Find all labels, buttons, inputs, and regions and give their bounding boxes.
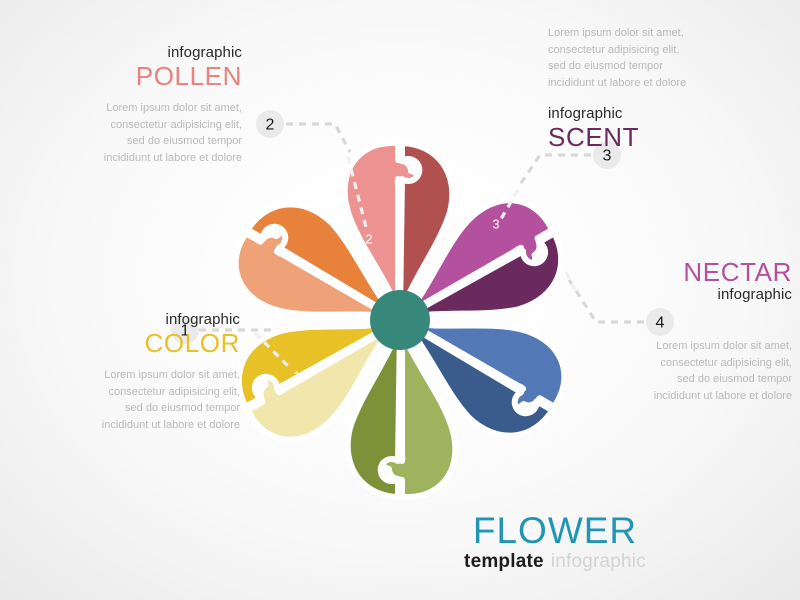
petal-number-3: 3	[492, 217, 499, 232]
section-pollen-headline: POLLEN	[10, 62, 242, 91]
page-subtitle: templateinfographic	[440, 552, 670, 571]
petal-number-2: 2	[365, 232, 372, 247]
section-color: infographic COLOR Lorem ipsum dolor sit …	[8, 312, 240, 434]
subtitle-template-word: template	[464, 551, 544, 572]
section-scent-headline: SCENT	[548, 123, 788, 152]
page-title-block: FLOWER templateinfographic	[440, 512, 670, 571]
section-nectar: NECTAR infographic Lorem ipsum dolor sit…	[560, 258, 792, 405]
step-badge-2[interactable]: 2	[256, 110, 284, 138]
section-nectar-body: Lorem ipsum dolor sit amet, consectetur …	[560, 338, 792, 405]
step-badge-label: 2	[266, 117, 275, 134]
section-color-headline: COLOR	[8, 329, 240, 358]
section-nectar-eyebrow: infographic	[560, 287, 792, 304]
leader-line-2	[286, 124, 350, 152]
section-pollen-body: Lorem ipsum dolor sit amet, consectetur …	[10, 100, 242, 167]
section-scent-body: Lorem ipsum dolor sit amet, consectetur …	[548, 25, 788, 92]
section-pollen-eyebrow: infographic	[10, 45, 242, 62]
section-color-body: Lorem ipsum dolor sit amet, consectetur …	[8, 367, 240, 434]
leader-line-3	[519, 155, 591, 186]
subtitle-infographic-word: infographic	[551, 551, 646, 572]
section-nectar-headline: NECTAR	[560, 258, 792, 287]
section-scent: Lorem ipsum dolor sit amet, consectetur …	[548, 25, 788, 152]
petal-number-1: 1	[293, 369, 300, 384]
section-scent-eyebrow: infographic	[548, 106, 788, 123]
infographic-canvas: 1234 1234 infographic POLLEN Lorem ipsum…	[0, 0, 800, 600]
section-color-eyebrow: infographic	[8, 312, 240, 329]
page-title: FLOWER	[440, 512, 670, 549]
flower-center-circle	[370, 290, 430, 350]
section-pollen: infographic POLLEN Lorem ipsum dolor sit…	[10, 45, 242, 167]
